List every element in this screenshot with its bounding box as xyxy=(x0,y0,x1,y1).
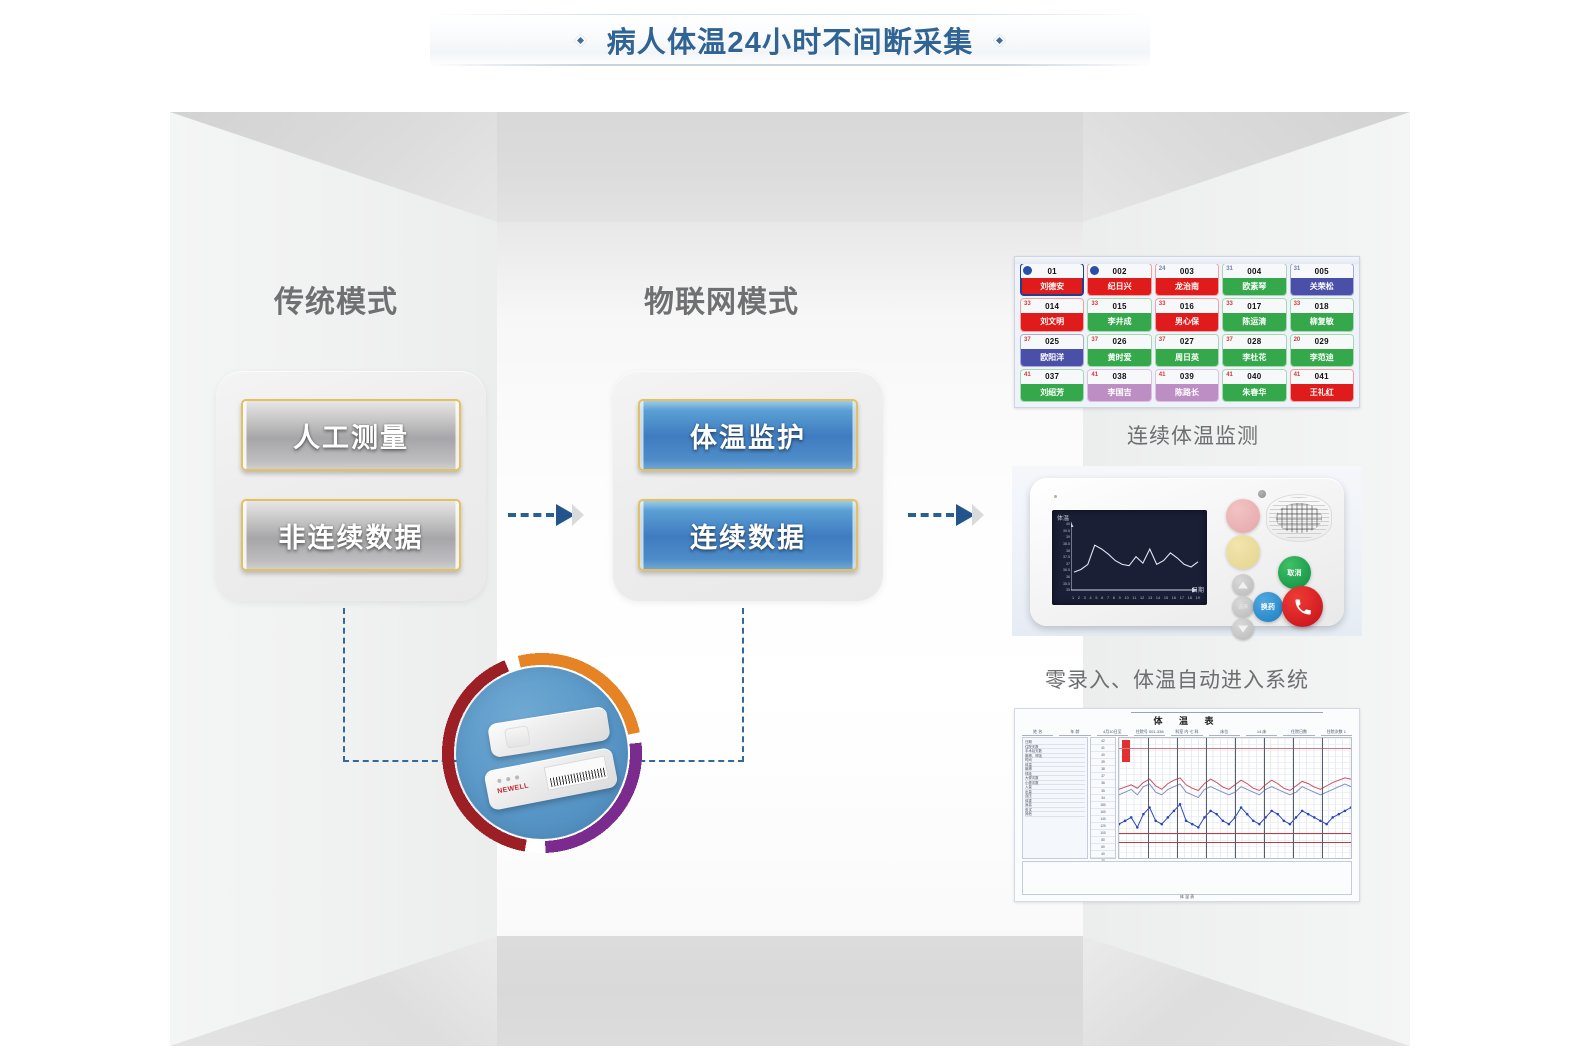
call-nurse-button-icon[interactable] xyxy=(1226,499,1260,533)
tempchart-scale-label: 37 xyxy=(1091,773,1115,780)
x-tick-label: 2 xyxy=(1078,597,1080,601)
room-number: 41 xyxy=(1024,372,1031,378)
tempchart-data-point xyxy=(1325,823,1328,826)
bed-number: 004 xyxy=(1247,267,1261,276)
bed-cell[interactable]: 37028李杜花 xyxy=(1223,335,1285,366)
y-tick-label: 38 xyxy=(1056,550,1070,554)
monitor-body: 体温 日期 4039.53938.53837.53736.53635.535 1… xyxy=(1030,478,1344,626)
patient-name: 纪日兴 xyxy=(1088,278,1150,295)
tempchart-header-cell: 年 龄 xyxy=(1059,729,1090,736)
patient-name: 李范迪 xyxy=(1291,349,1353,366)
bed-cell-header: 37025 xyxy=(1021,335,1083,349)
tempchart-data-point xyxy=(1301,810,1304,813)
tempchart-data-point xyxy=(1228,823,1231,826)
tempchart-footer-label: 体 温 表 xyxy=(1015,894,1359,900)
y-tick-label: 40 xyxy=(1056,523,1070,527)
tempchart-data-point xyxy=(1276,813,1279,816)
tempchart-row-label: 其他 xyxy=(1025,812,1085,817)
tempchart-scale-label: 80 xyxy=(1091,837,1115,844)
tempchart-header-cell: 床位 xyxy=(1209,729,1240,736)
arrow-head-shadow xyxy=(972,504,984,526)
microphone-icon xyxy=(1258,490,1266,498)
bed-cell[interactable]: 31005关荣松 xyxy=(1291,264,1353,295)
page-title-banner: 病人体温24小时不间断采集 xyxy=(430,14,1150,66)
arrow-dash xyxy=(908,513,954,517)
pill-label: 人工测量 xyxy=(293,416,409,455)
patient-status-icon xyxy=(1090,266,1099,275)
y-tick-label: 39.5 xyxy=(1056,530,1070,534)
patient-name: 龙治南 xyxy=(1156,278,1218,295)
chevron-up-icon[interactable] xyxy=(1232,574,1254,596)
bed-cell-header: 41041 xyxy=(1291,370,1353,384)
tempchart-data-point xyxy=(1313,816,1316,819)
tempchart-day-separator xyxy=(1206,738,1207,858)
cancel-button[interactable]: 取消 xyxy=(1278,556,1311,589)
bedside-monitor-screenshot[interactable]: 体温 日期 4039.53938.53837.53736.53635.535 1… xyxy=(1012,466,1362,636)
iot-mode-heading: 物联网模式 xyxy=(644,277,799,321)
chart-x-ticks: 12345678910111213141516171819 xyxy=(1072,597,1200,601)
x-tick-label: 19 xyxy=(1196,597,1200,601)
bed-number: 026 xyxy=(1112,337,1126,346)
bed-cell[interactable]: 24003龙治南 xyxy=(1156,264,1218,295)
tempchart-header-cell: 姓 名 xyxy=(1022,729,1053,736)
change-medicine-button-label: 换药 xyxy=(1261,602,1276,612)
room-number: 41 xyxy=(1159,372,1166,378)
select-label: 选择 xyxy=(1238,604,1248,611)
tempchart-footer-table xyxy=(1022,861,1352,895)
tempchart-data-point xyxy=(1331,816,1334,819)
room-ceiling xyxy=(497,112,1083,222)
patient-name: 黄时爱 xyxy=(1088,349,1150,366)
tempchart-title: 体 温 表 xyxy=(1015,714,1359,727)
tempchart-data-point xyxy=(1222,819,1225,822)
tempchart-header-cell: 住院次数 1 xyxy=(1321,729,1352,736)
monitor-display: 体温 日期 4039.53938.53837.53736.53635.535 1… xyxy=(1052,510,1207,605)
tempchart-scale-label: 36 xyxy=(1091,780,1115,787)
chart-y-axis-label: 体温 xyxy=(1057,513,1069,522)
bed-cell-header: 33015 xyxy=(1088,299,1150,313)
y-tick-label: 36.5 xyxy=(1056,569,1070,573)
bed-cell[interactable]: 37026黄时爱 xyxy=(1088,335,1150,366)
select-icon[interactable]: 选择 xyxy=(1232,596,1254,618)
bed-cell[interactable]: 01刘德安 xyxy=(1021,264,1083,295)
patient-name: 李井成 xyxy=(1088,313,1150,330)
iot-mode-card-group: 体温监护 连续数据 xyxy=(613,371,883,601)
x-tick-label: 13 xyxy=(1148,597,1152,601)
room-number: 37 xyxy=(1024,337,1031,343)
tempchart-header-fields: 姓 名年 龄4月10日至住院号 001-338科室 内 七 科床位14 床住院日… xyxy=(1022,727,1352,737)
patient-name: 柳复敏 xyxy=(1291,313,1353,330)
tempchart-data-point xyxy=(1338,813,1341,816)
room-floor xyxy=(497,936,1083,1046)
bed-number: 002 xyxy=(1112,267,1126,276)
bed-cell-header: 37026 xyxy=(1088,335,1150,349)
x-tick-label: 14 xyxy=(1156,597,1160,601)
tempchart-data-point xyxy=(1258,823,1261,826)
tempchart-scale-label: 38 xyxy=(1091,766,1115,773)
x-tick-label: 8 xyxy=(1113,597,1115,601)
bed-cell[interactable]: 41039陈路长 xyxy=(1156,370,1218,401)
tempchart-header-cell: 科室 内 七 科 xyxy=(1171,729,1202,736)
bed-cell-header: 37028 xyxy=(1223,335,1285,349)
room-number: 31 xyxy=(1226,266,1233,272)
bed-number: 003 xyxy=(1180,267,1194,276)
tempchart-day-separator xyxy=(1177,738,1178,858)
tempchart-header-cell: 4月10日至 xyxy=(1097,729,1128,736)
tempchart-data-point xyxy=(1307,813,1310,816)
bed-cell[interactable]: 33015李井成 xyxy=(1088,299,1150,330)
tempchart-data-point xyxy=(1185,819,1188,822)
bed-number: 015 xyxy=(1112,302,1126,311)
bed-cell[interactable]: 002纪日兴 xyxy=(1088,264,1150,295)
tempchart-data-point xyxy=(1167,816,1170,819)
bedboard-caption: 连续体温监测 xyxy=(1127,420,1259,450)
x-tick-label: 9 xyxy=(1119,597,1121,601)
room-number: 33 xyxy=(1091,301,1098,307)
bed-number: 029 xyxy=(1315,337,1329,346)
room-number: 31 xyxy=(1294,266,1301,272)
patient-status-icon xyxy=(1023,266,1032,275)
tempchart-data-point xyxy=(1289,823,1292,826)
tempchart-data-point xyxy=(1124,819,1127,822)
room-number: 33 xyxy=(1024,301,1031,307)
bed-cell-header: 33017 xyxy=(1223,299,1285,313)
tempchart-admission-marker xyxy=(1122,740,1130,762)
dashed-arrow-right-icon-1 xyxy=(508,507,584,523)
y-tick-label: 38.5 xyxy=(1056,543,1070,547)
tempchart-title-rule xyxy=(1131,712,1323,713)
tempchart-data-point xyxy=(1173,810,1176,813)
bed-number: 018 xyxy=(1315,302,1329,311)
tempchart-data-point xyxy=(1246,813,1249,816)
tempchart-row-labels: 日期住院天数手术后天数脉搏、呼吸时间体温脉搏呼吸大便次数小便次数入量出量血压体重… xyxy=(1022,737,1088,859)
room-number: 33 xyxy=(1226,301,1233,307)
bedboard-screenshot[interactable]: 01刘德安002纪日兴24003龙治南31004欧素琴31005关荣松33014… xyxy=(1014,256,1360,408)
tempchart-scale-label: 120 xyxy=(1091,823,1115,830)
chevron-down-icon[interactable] xyxy=(1232,618,1254,640)
patient-name: 欧阳洋 xyxy=(1021,349,1083,366)
bed-number: 038 xyxy=(1112,372,1126,381)
diamond-icon-right xyxy=(994,34,1007,47)
y-tick-label: 39 xyxy=(1056,536,1070,540)
tempchart-data-point xyxy=(1179,803,1182,806)
tempchart-scale-label: 160 xyxy=(1091,809,1115,816)
tempchart-scale-label: 35 xyxy=(1091,788,1115,795)
patient-name: 刘文明 xyxy=(1021,313,1083,330)
pill-continuous-data[interactable]: 连续数据 xyxy=(638,499,858,571)
tempchart-data-point xyxy=(1154,819,1157,822)
tempchart-data-point xyxy=(1130,816,1133,819)
bed-number: 037 xyxy=(1045,372,1059,381)
poster-canvas: 病人体温24小时不间断采集 传统模式 物联网模式 人工测量 非连续数据 体温监护… xyxy=(0,0,1580,1054)
phone-handset-glyph xyxy=(1293,597,1313,617)
patient-name: 关荣松 xyxy=(1291,278,1353,295)
bed-cell-header: 24003 xyxy=(1156,264,1218,278)
tempchart-scale-label: 42 xyxy=(1091,738,1115,745)
bed-cell-header: 41040 xyxy=(1223,370,1285,384)
tempchart-plot-area xyxy=(1118,737,1352,859)
x-tick-label: 16 xyxy=(1172,597,1176,601)
x-tick-label: 1 xyxy=(1072,597,1074,601)
tempchart-data-point xyxy=(1197,826,1200,829)
x-tick-label: 12 xyxy=(1140,597,1144,601)
tempchart-scale-label: 100 xyxy=(1091,830,1115,837)
diamond-icon-left xyxy=(574,34,587,47)
temperature-line-chart xyxy=(1071,522,1201,594)
sensor-device-badge: NEWELL xyxy=(434,645,650,861)
temperature-chart-screenshot[interactable]: 体 温 表 姓 名年 龄4月10日至住院号 001-338科室 内 七 科床位1… xyxy=(1014,708,1360,902)
power-led-icon xyxy=(1054,495,1057,498)
tempchart-scale-label: 34 xyxy=(1091,795,1115,802)
bed-cell-header: 31004 xyxy=(1223,264,1285,278)
bed-cell[interactable]: 31004欧素琴 xyxy=(1223,264,1285,295)
bed-cell-header: 20029 xyxy=(1291,335,1353,349)
room-number: 33 xyxy=(1159,301,1166,307)
tempchart-data-point xyxy=(1295,816,1298,819)
bed-number: 027 xyxy=(1180,337,1194,346)
bed-cell[interactable]: 41038李国吉 xyxy=(1088,370,1150,401)
tempchart-data-point xyxy=(1240,806,1243,809)
connector-line-right-vertical xyxy=(742,608,744,762)
tempchart-header-cell: 住院日数 xyxy=(1283,729,1314,736)
patient-name: 刘绍芳 xyxy=(1021,384,1083,401)
sensor-patch-window xyxy=(504,725,531,749)
bed-cell-header: 002 xyxy=(1088,264,1150,278)
chart-y-ticks: 4039.53938.53837.53736.53635.535 xyxy=(1056,523,1070,593)
bed-cell[interactable]: 37025欧阳洋 xyxy=(1021,335,1083,366)
traditional-mode-card-group: 人工测量 非连续数据 xyxy=(216,371,486,601)
x-tick-label: 4 xyxy=(1089,597,1091,601)
patient-name: 李杜花 xyxy=(1223,349,1285,366)
room-number: 20 xyxy=(1294,337,1301,343)
bed-number: 016 xyxy=(1180,302,1194,311)
patient-name: 朱春华 xyxy=(1223,384,1285,401)
tempchart-data-point xyxy=(1270,810,1273,813)
y-tick-label: 37 xyxy=(1056,563,1070,567)
bed-cell-header: 33016 xyxy=(1156,299,1218,313)
pill-temperature-monitoring[interactable]: 体温监护 xyxy=(638,399,858,471)
y-tick-label: 35.5 xyxy=(1056,583,1070,587)
patient-name: 欧素琴 xyxy=(1223,278,1285,295)
x-tick-label: 5 xyxy=(1095,597,1097,601)
y-tick-label: 35 xyxy=(1056,589,1070,593)
traditional-mode-heading: 传统模式 xyxy=(274,277,398,321)
tempchart-header-cell: 住院号 001-338 xyxy=(1134,729,1165,736)
room-number: 37 xyxy=(1226,337,1233,343)
bed-cell[interactable]: 33018柳复敏 xyxy=(1291,299,1353,330)
bed-cell-header: 41037 xyxy=(1021,370,1083,384)
bed-cell-header: 33018 xyxy=(1291,299,1353,313)
bed-cell[interactable]: 41037刘绍芳 xyxy=(1021,370,1083,401)
bed-number: 005 xyxy=(1315,267,1329,276)
x-tick-label: 10 xyxy=(1124,597,1128,601)
tempchart-day-separator xyxy=(1264,738,1265,858)
pill-label: 非连续数据 xyxy=(279,516,424,555)
assist-button-icon[interactable] xyxy=(1226,535,1260,569)
x-tick-label: 17 xyxy=(1180,597,1184,601)
tempchart-data-point xyxy=(1209,810,1212,813)
tempchart-scale-label: 60 xyxy=(1091,844,1115,851)
pill-label: 连续数据 xyxy=(690,516,806,555)
tempchart-scale-label: 40 xyxy=(1091,851,1115,858)
bed-number: 039 xyxy=(1180,372,1194,381)
tempchart-data-point xyxy=(1191,823,1194,826)
dashed-arrow-right-icon-2 xyxy=(908,507,984,523)
pill-noncontinuous-data[interactable]: 非连续数据 xyxy=(241,499,461,571)
tempchart-data-point xyxy=(1136,826,1139,829)
arrow-head-shadow xyxy=(572,504,584,526)
bed-cell-header: 37027 xyxy=(1156,335,1218,349)
cancel-button-label: 取消 xyxy=(1287,568,1302,578)
tempchart-data-point xyxy=(1252,819,1255,822)
bed-cell-header: 41039 xyxy=(1156,370,1218,384)
room-number: 37 xyxy=(1091,337,1098,343)
change-medicine-button[interactable]: 换药 xyxy=(1253,592,1283,622)
bed-cell[interactable]: 33017陈运清 xyxy=(1223,299,1285,330)
bed-cell[interactable]: 33016男心保 xyxy=(1156,299,1218,330)
pill-label: 体温监护 xyxy=(690,416,806,455)
x-tick-label: 18 xyxy=(1188,597,1192,601)
sensor-disc: NEWELL xyxy=(456,667,628,839)
tempchart-scale-label: 140 xyxy=(1091,816,1115,823)
bed-cell-header: 31005 xyxy=(1291,264,1353,278)
room-number: 41 xyxy=(1294,372,1301,378)
bed-number: 014 xyxy=(1045,302,1059,311)
sensor-tag-icon: NEWELL xyxy=(483,747,618,811)
connector-line-left-vertical xyxy=(343,608,345,762)
bed-cell-header: 33014 xyxy=(1021,299,1083,313)
patient-name: 周日英 xyxy=(1156,349,1218,366)
bed-cell[interactable]: 20029李范迪 xyxy=(1291,335,1353,366)
x-tick-label: 7 xyxy=(1107,597,1109,601)
bed-number: 017 xyxy=(1247,302,1261,311)
tempchart-data-point xyxy=(1160,823,1163,826)
bed-number: 041 xyxy=(1315,372,1329,381)
page-title: 病人体温24小时不间断采集 xyxy=(607,19,974,61)
bed-number: 025 xyxy=(1045,337,1059,346)
tempchart-scale-label: 41 xyxy=(1091,745,1115,752)
speaker-grille-icon xyxy=(1266,494,1332,542)
tempchart-data-point xyxy=(1283,819,1286,822)
tempchart-scale-label: 180 xyxy=(1091,802,1115,809)
y-tick-label: 36 xyxy=(1056,576,1070,580)
bed-cell-header: 01 xyxy=(1021,264,1083,278)
arrow-dash xyxy=(508,513,554,517)
bedboard-titlebar xyxy=(1015,257,1359,264)
room-number: 41 xyxy=(1091,372,1098,378)
tempchart-scale-label: 39 xyxy=(1091,759,1115,766)
sensor-tag-leds xyxy=(497,775,519,783)
pill-manual-measurement[interactable]: 人工测量 xyxy=(241,399,461,471)
bed-cell[interactable]: 37027周日英 xyxy=(1156,335,1218,366)
x-tick-label: 6 xyxy=(1101,597,1103,601)
patient-name: 李国吉 xyxy=(1088,384,1150,401)
x-tick-label: 15 xyxy=(1164,597,1168,601)
bed-number: 040 xyxy=(1247,372,1261,381)
tempchart-scale-label: 40 xyxy=(1091,752,1115,759)
sensor-tag-brand: NEWELL xyxy=(497,782,530,795)
bed-number: 01 xyxy=(1047,267,1057,276)
tempchart-header-cell: 14 床 xyxy=(1246,729,1277,736)
tempchart-data-point xyxy=(1215,813,1218,816)
patient-name: 王礼红 xyxy=(1291,384,1353,401)
room-number: 24 xyxy=(1159,266,1166,272)
room-number: 41 xyxy=(1226,372,1233,378)
bed-cell-header: 41038 xyxy=(1088,370,1150,384)
monitor-caption: 零录入、体温自动进入系统 xyxy=(1045,664,1309,694)
tempchart-day-separator xyxy=(1235,738,1236,858)
bed-cell[interactable]: 33014刘文明 xyxy=(1021,299,1083,330)
bedboard-grid: 01刘德安002纪日兴24003龙治南31004欧素琴31005关荣松33014… xyxy=(1021,264,1353,401)
room-number: 33 xyxy=(1294,301,1301,307)
patient-name: 男心保 xyxy=(1156,313,1218,330)
tempchart-data-point xyxy=(1344,810,1347,813)
bed-number: 028 xyxy=(1247,337,1261,346)
patient-name: 陈运清 xyxy=(1223,313,1285,330)
tempchart-day-separator xyxy=(1322,738,1323,858)
tempchart-day-separator xyxy=(1148,738,1149,858)
bed-cell[interactable]: 41041王礼红 xyxy=(1291,370,1353,401)
tempchart-scale-labels: 4241403938373635341801601401201008060402… xyxy=(1090,737,1116,859)
x-tick-label: 11 xyxy=(1132,597,1136,601)
patient-name: 陈路长 xyxy=(1156,384,1218,401)
tempchart-data-point xyxy=(1142,813,1145,816)
bed-cell[interactable]: 41040朱春华 xyxy=(1223,370,1285,401)
tempchart-day-separator xyxy=(1293,738,1294,858)
room-number: 37 xyxy=(1159,337,1166,343)
x-tick-label: 3 xyxy=(1084,597,1086,601)
y-tick-label: 37.5 xyxy=(1056,556,1070,560)
patient-name: 刘德安 xyxy=(1021,278,1083,295)
phone-handset-icon[interactable] xyxy=(1282,586,1323,627)
